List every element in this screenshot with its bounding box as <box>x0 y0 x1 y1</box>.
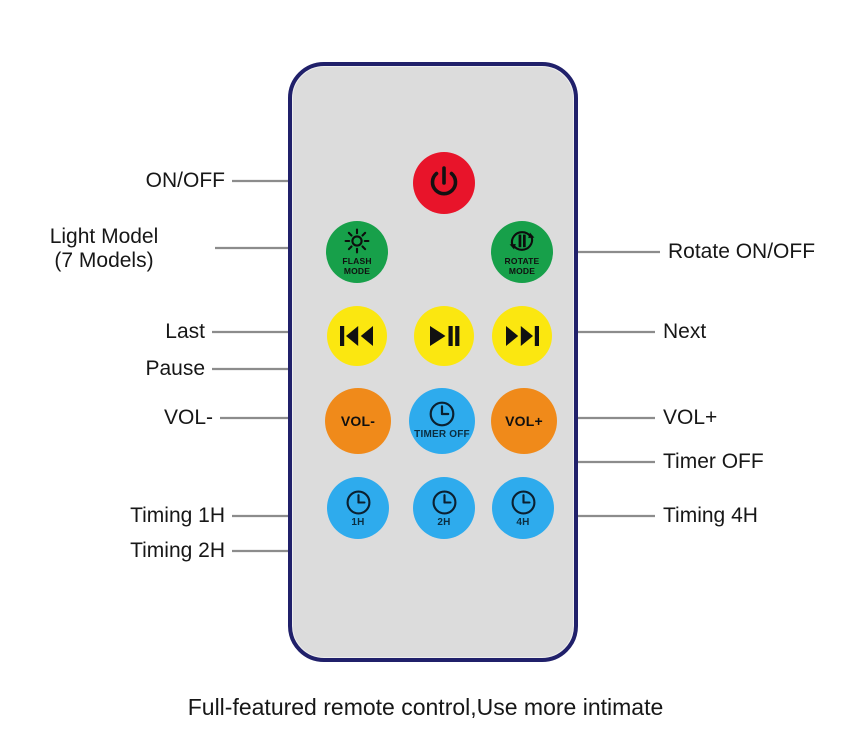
annotation-vol-minus-label: VOL- <box>164 406 213 429</box>
remote-control-diagram: FLASH MODE ROTATE MODE <box>0 0 851 744</box>
annotation-timing-2h: Timing 2H <box>0 539 225 563</box>
annotation-next: Next <box>663 320 706 344</box>
previous-track-button[interactable] <box>327 306 387 366</box>
annotation-timing-4h: Timing 4H <box>663 504 758 528</box>
timing-1h-button[interactable]: 1H <box>327 477 389 539</box>
rotate-mode-button[interactable]: ROTATE MODE <box>491 221 553 283</box>
clock-icon <box>431 489 458 516</box>
timing-1h-caption: 1H <box>351 518 364 528</box>
next-track-button[interactable] <box>492 306 552 366</box>
flash-mode-caption: FLASH MODE <box>342 257 371 275</box>
annotation-timing-1h-label: Timing 1H <box>130 504 225 527</box>
annotation-light-model-label-line2: (7 Models) <box>0 249 208 273</box>
timing-2h-button[interactable]: 2H <box>413 477 475 539</box>
flash-mode-button[interactable]: FLASH MODE <box>326 221 388 283</box>
annotation-pause-label: Pause <box>145 357 205 380</box>
volume-down-caption: VOL- <box>341 414 375 428</box>
timer-off-button[interactable]: TIMER OFF <box>409 388 475 454</box>
annotation-timing-2h-label: Timing 2H <box>130 539 225 562</box>
play-pause-icon <box>427 323 461 349</box>
volume-down-button[interactable]: VOL- <box>325 388 391 454</box>
previous-track-icon <box>338 323 376 349</box>
clock-icon <box>345 489 372 516</box>
annotation-timing-4h-label: Timing 4H <box>663 504 758 527</box>
annotation-timing-1h: Timing 1H <box>0 504 225 528</box>
play-pause-button[interactable] <box>414 306 474 366</box>
timer-off-caption: TIMER OFF <box>414 430 470 440</box>
annotation-on-off: ON/OFF <box>0 169 225 193</box>
annotation-vol-plus-label: VOL+ <box>663 406 717 429</box>
diagram-caption: Full-featured remote control,Use more in… <box>0 694 851 721</box>
clock-icon <box>428 400 456 428</box>
timing-2h-caption: 2H <box>437 518 450 528</box>
next-track-icon <box>503 323 541 349</box>
rotate-mode-caption: ROTATE MODE <box>505 257 540 275</box>
remote-body: FLASH MODE ROTATE MODE <box>288 62 578 662</box>
rotate-pause-icon <box>508 228 536 254</box>
timing-4h-button[interactable]: 4H <box>492 477 554 539</box>
annotation-timer-off-label: Timer OFF <box>663 450 764 473</box>
power-icon <box>425 164 463 202</box>
annotation-light-model: Light Model (7 Models) <box>0 225 208 273</box>
annotation-on-off-label: ON/OFF <box>146 169 225 192</box>
annotation-light-model-label-line1: Light Model <box>0 225 208 249</box>
annotation-last: Last <box>0 320 205 344</box>
timing-4h-caption: 4H <box>516 518 529 528</box>
sun-flash-icon <box>344 228 370 254</box>
volume-up-caption: VOL+ <box>505 414 543 428</box>
power-button[interactable] <box>413 152 475 214</box>
annotation-last-label: Last <box>165 320 205 343</box>
annotation-rotate-on-off: Rotate ON/OFF <box>668 240 815 264</box>
clock-icon <box>510 489 537 516</box>
annotation-timer-off: Timer OFF <box>663 450 764 474</box>
annotation-rotate-on-off-label: Rotate ON/OFF <box>668 240 815 263</box>
annotation-vol-minus: VOL- <box>0 406 213 430</box>
annotation-vol-plus: VOL+ <box>663 406 717 430</box>
volume-up-button[interactable]: VOL+ <box>491 388 557 454</box>
annotation-pause: Pause <box>0 357 205 381</box>
annotation-next-label: Next <box>663 320 706 343</box>
